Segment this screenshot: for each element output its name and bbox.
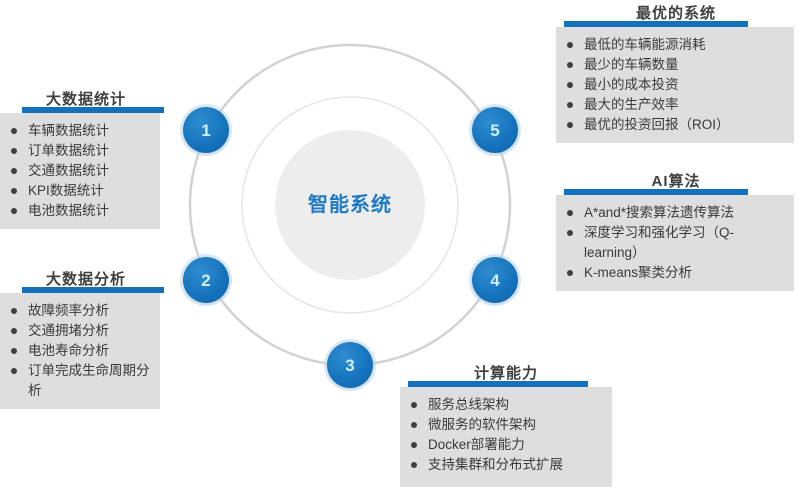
bullet-dot-icon — [11, 348, 17, 354]
bullet-dot-icon — [11, 168, 17, 174]
bullet-dot-icon — [11, 208, 17, 214]
list-item: A*and*搜索算法遗传算法 — [564, 203, 784, 223]
list-item: 最低的车辆能源消耗 — [564, 35, 784, 55]
node-4[interactable]: 4 — [472, 257, 518, 303]
list-item-text: 订单完成生命周期分析 — [28, 363, 150, 398]
list-item: 最少的车辆数量 — [564, 55, 784, 75]
list-item: 交通拥堵分析 — [8, 321, 150, 341]
list-item: 电池数据统计 — [8, 201, 150, 221]
list-item-text: 车辆数据统计 — [28, 123, 109, 138]
node-1[interactable]: 1 — [183, 107, 229, 153]
title-underline — [22, 107, 164, 113]
bullet-dot-icon — [11, 308, 17, 314]
list-item: 订单数据统计 — [8, 141, 150, 161]
bullet-list: 服务总线架构 微服务的软件架构 Docker部署能力 支持集群和分布式扩展 — [408, 395, 602, 475]
list-item: 最优的投资回报（ROI） — [564, 115, 784, 135]
bullet-dot-icon — [11, 148, 17, 154]
block-ai-algorithms-title-text: AI算法 — [651, 173, 700, 190]
list-item: 车辆数据统计 — [8, 121, 150, 141]
title-underline — [408, 381, 588, 387]
bullet-list: A*and*搜索算法遗传算法 深度学习和强化学习（Q-learning） K-m… — [564, 203, 784, 283]
list-item-text: K-means聚类分析 — [584, 265, 692, 280]
block-computing-power: 计算能力 服务总线架构 微服务的软件架构 Docker部署能力 支持集群和分布式… — [400, 362, 612, 487]
list-item-text: 故障频率分析 — [28, 303, 109, 318]
bullet-dot-icon — [567, 82, 573, 88]
list-item-text: 交通数据统计 — [28, 163, 109, 178]
bullet-dot-icon — [411, 442, 417, 448]
node-4-label: 4 — [490, 272, 499, 289]
bullet-dot-icon — [11, 188, 17, 194]
list-item: 服务总线架构 — [408, 395, 602, 415]
list-item-text: 电池数据统计 — [28, 203, 109, 218]
node-3-label: 3 — [345, 357, 354, 374]
list-item: Docker部署能力 — [408, 435, 602, 455]
block-big-data-analysis-title: 大数据分析 — [0, 268, 172, 293]
bullet-dot-icon — [11, 328, 17, 334]
title-underline — [22, 287, 164, 293]
list-item-text: 微服务的软件架构 — [428, 417, 536, 432]
node-5[interactable]: 5 — [472, 107, 518, 153]
block-computing-power-title-text: 计算能力 — [474, 365, 538, 382]
bullet-dot-icon — [411, 462, 417, 468]
block-optimal-system-title-text: 最优的系统 — [636, 5, 716, 22]
block-big-data-stats-title-text: 大数据统计 — [46, 91, 126, 108]
list-item: K-means聚类分析 — [564, 263, 784, 283]
bullet-list: 故障频率分析 交通拥堵分析 电池寿命分析 订单完成生命周期分析 — [8, 301, 150, 401]
block-big-data-analysis-title-text: 大数据分析 — [46, 271, 126, 288]
list-item-text: 最大的生产效率 — [584, 97, 679, 112]
block-optimal-system: 最优的系统 最低的车辆能源消耗 最少的车辆数量 最小的成本投资 最大的生产效率 … — [556, 2, 796, 143]
block-optimal-system-title: 最优的系统 — [556, 2, 796, 27]
list-item-text: 电池寿命分析 — [28, 343, 109, 358]
list-item-text: 支持集群和分布式扩展 — [428, 457, 563, 472]
list-item-text: 交通拥堵分析 — [28, 323, 109, 338]
hub-label: 智能系统 — [270, 188, 430, 217]
diagram-canvas: 智能系统 1 2 3 4 5 大数据统计 车辆数据统计 订单数据统计 交通数据统… — [0, 0, 800, 502]
list-item: 故障频率分析 — [8, 301, 150, 321]
list-item-text: 服务总线架构 — [428, 397, 509, 412]
block-big-data-stats-body: 车辆数据统计 订单数据统计 交通数据统计 KPI数据统计 电池数据统计 — [0, 113, 160, 229]
list-item-text: A*and*搜索算法遗传算法 — [584, 205, 734, 220]
list-item-text: 深度学习和强化学习（Q-learning） — [584, 225, 734, 260]
title-underline — [564, 21, 748, 27]
list-item-text: 最少的车辆数量 — [584, 57, 679, 72]
block-computing-power-title: 计算能力 — [400, 362, 612, 387]
list-item-text: KPI数据统计 — [28, 183, 104, 198]
list-item-text: Docker部署能力 — [428, 437, 525, 452]
bullet-dot-icon — [567, 270, 573, 276]
node-5-label: 5 — [490, 122, 499, 139]
bullet-dot-icon — [567, 62, 573, 68]
list-item: 支持集群和分布式扩展 — [408, 455, 602, 475]
block-optimal-system-body: 最低的车辆能源消耗 最少的车辆数量 最小的成本投资 最大的生产效率 最优的投资回… — [556, 27, 794, 143]
list-item-text: 最优的投资回报（ROI） — [584, 117, 730, 132]
list-item: 最大的生产效率 — [564, 95, 784, 115]
bullet-dot-icon — [567, 210, 573, 216]
list-item: 订单完成生命周期分析 — [8, 361, 150, 401]
block-computing-power-body: 服务总线架构 微服务的软件架构 Docker部署能力 支持集群和分布式扩展 — [400, 387, 612, 487]
list-item: 交通数据统计 — [8, 161, 150, 181]
bullet-dot-icon — [11, 128, 17, 134]
node-2-label: 2 — [201, 272, 210, 289]
node-1-label: 1 — [201, 122, 210, 139]
list-item: 深度学习和强化学习（Q-learning） — [564, 223, 784, 263]
node-2[interactable]: 2 — [183, 257, 229, 303]
block-big-data-analysis-body: 故障频率分析 交通拥堵分析 电池寿命分析 订单完成生命周期分析 — [0, 293, 160, 409]
block-ai-algorithms-title: AI算法 — [556, 170, 796, 195]
list-item-text: 最低的车辆能源消耗 — [584, 37, 706, 52]
block-big-data-analysis: 大数据分析 故障频率分析 交通拥堵分析 电池寿命分析 订单完成生命周期分析 — [0, 268, 172, 409]
bullet-list: 车辆数据统计 订单数据统计 交通数据统计 KPI数据统计 电池数据统计 — [8, 121, 150, 221]
node-3[interactable]: 3 — [327, 342, 373, 388]
block-ai-algorithms: AI算法 A*and*搜索算法遗传算法 深度学习和强化学习（Q-learning… — [556, 170, 796, 291]
list-item: KPI数据统计 — [8, 181, 150, 201]
bullet-dot-icon — [411, 422, 417, 428]
bullet-dot-icon — [567, 122, 573, 128]
bullet-dot-icon — [567, 230, 573, 236]
bullet-dot-icon — [567, 102, 573, 108]
block-ai-algorithms-body: A*and*搜索算法遗传算法 深度学习和强化学习（Q-learning） K-m… — [556, 195, 794, 291]
block-big-data-stats: 大数据统计 车辆数据统计 订单数据统计 交通数据统计 KPI数据统计 电池数据统… — [0, 88, 172, 229]
title-underline — [564, 189, 748, 195]
bullet-dot-icon — [411, 402, 417, 408]
list-item-text: 订单数据统计 — [28, 143, 109, 158]
list-item: 电池寿命分析 — [8, 341, 150, 361]
block-big-data-stats-title: 大数据统计 — [0, 88, 172, 113]
list-item: 最小的成本投资 — [564, 75, 784, 95]
list-item: 微服务的软件架构 — [408, 415, 602, 435]
bullet-dot-icon — [567, 42, 573, 48]
bullet-list: 最低的车辆能源消耗 最少的车辆数量 最小的成本投资 最大的生产效率 最优的投资回… — [564, 35, 784, 135]
bullet-dot-icon — [11, 368, 17, 374]
list-item-text: 最小的成本投资 — [584, 77, 679, 92]
